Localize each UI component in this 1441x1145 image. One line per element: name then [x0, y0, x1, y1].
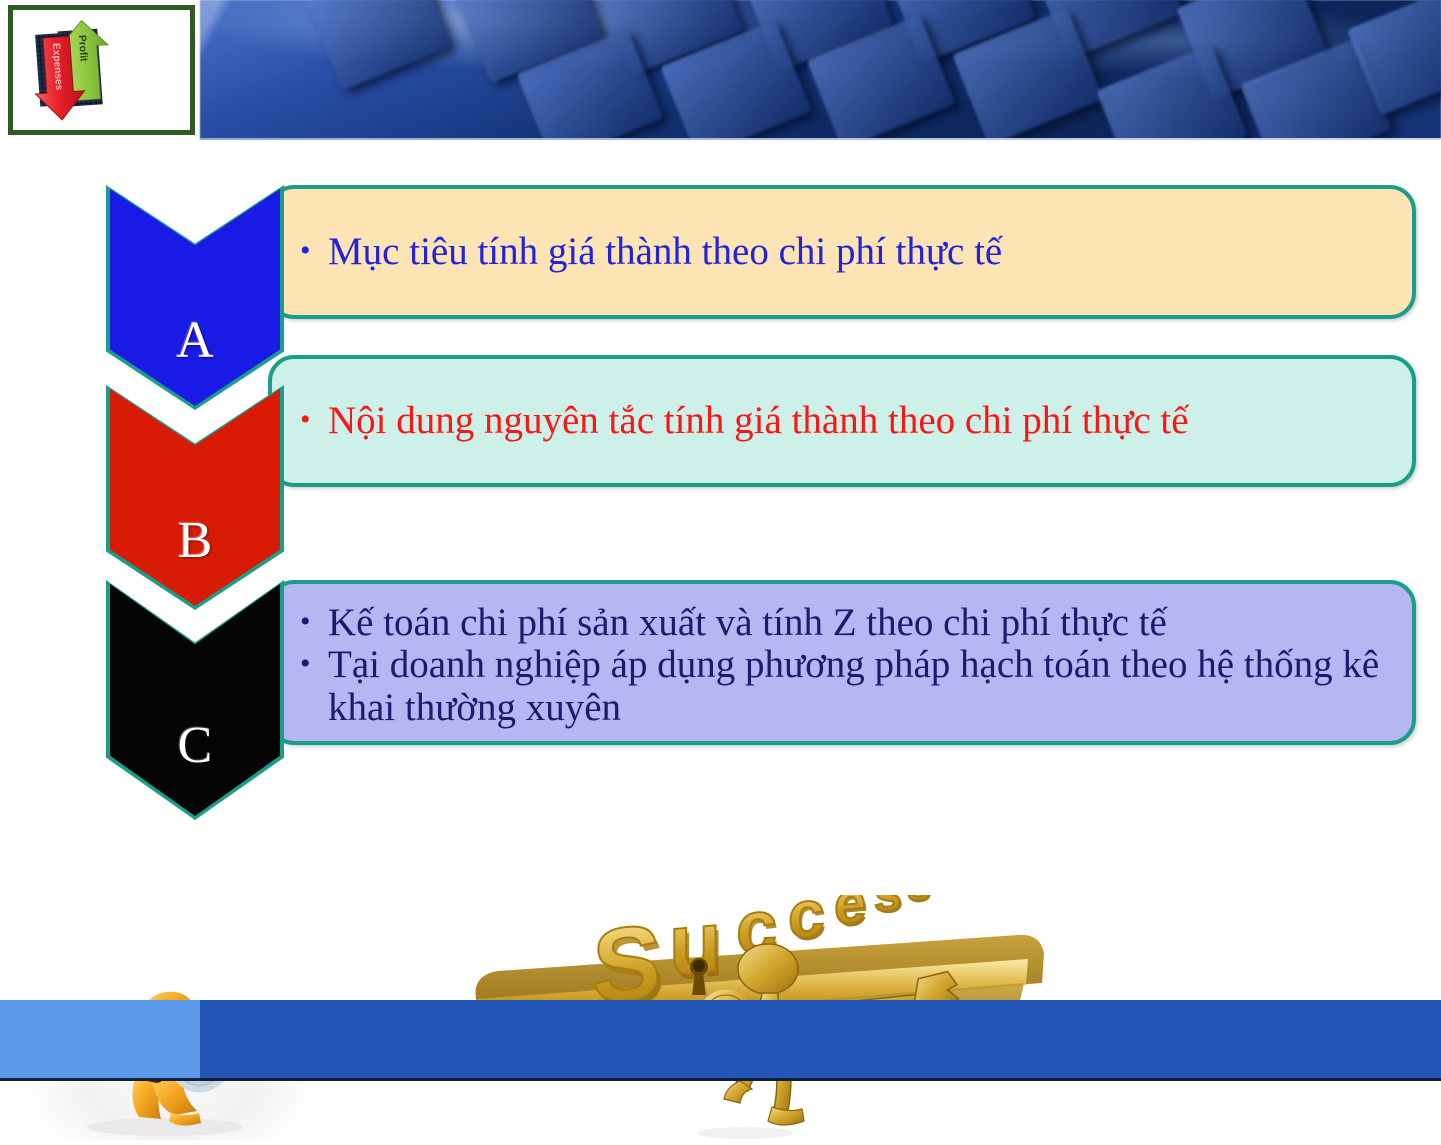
step-marker-c[interactable]: C	[106, 580, 284, 820]
step-marker-b-letter: B	[106, 515, 284, 567]
step-marker-a-letter: A	[106, 315, 284, 367]
footer-accent-left	[0, 1000, 200, 1078]
bullet-dot-icon: •	[300, 400, 328, 441]
step-marker-a[interactable]: A	[106, 185, 284, 410]
bullet-dot-icon: •	[300, 602, 328, 643]
profit-expenses-logo-art: Profit Expenses	[13, 10, 190, 130]
logo-profit-label: Profit	[76, 35, 89, 63]
step-box-b: • Nội dung nguyên tắc tính giá thành the…	[268, 355, 1416, 487]
step-box-c: • Kế toán chi phí sản xuất và tính Z the…	[268, 580, 1416, 745]
step-b-bullet: • Nội dung nguyên tắc tính giá thành the…	[300, 400, 1392, 442]
svg-text:e: e	[834, 895, 866, 937]
step-marker-c-letter: C	[106, 720, 284, 772]
step-c-text-1: Kế toán chi phí sản xuất và tính Z theo …	[328, 602, 1392, 644]
step-c-bullet-1: • Kế toán chi phí sản xuất và tính Z the…	[300, 602, 1392, 644]
step-box-a: • Mục tiêu tính giá thành theo chi phí t…	[268, 185, 1416, 319]
svg-text:c: c	[788, 895, 825, 953]
bullet-dot-icon: •	[300, 644, 328, 685]
step-b-text: Nội dung nguyên tắc tính giá thành theo …	[328, 400, 1392, 442]
step-c-bullet-2: • Tại doanh nghiệp áp dụng phương pháp h…	[300, 644, 1392, 728]
keyboard-banner-image	[200, 0, 1441, 140]
footer-accent-right	[200, 1000, 1441, 1078]
slide-footer-bar	[0, 1000, 1441, 1081]
step-c-text-2: Tại doanh nghiệp áp dụng phương pháp hạc…	[328, 644, 1392, 728]
header-banner: Profit Expenses	[0, 0, 1441, 140]
slide-content-area: A • Mục tiêu tính giá thành theo chi phí…	[0, 140, 1441, 1000]
profit-expenses-logo: Profit Expenses	[8, 5, 195, 135]
keyboard-keys-decoration	[200, 0, 1441, 140]
step-a-text: Mục tiêu tính giá thành theo chi phí thự…	[328, 231, 1392, 273]
step-a-bullet: • Mục tiêu tính giá thành theo chi phí t…	[300, 231, 1392, 273]
step-marker-b[interactable]: B	[106, 385, 284, 610]
bullet-dot-icon: •	[300, 231, 328, 272]
svg-text:s: s	[874, 895, 902, 923]
svg-text:s: s	[907, 895, 931, 911]
